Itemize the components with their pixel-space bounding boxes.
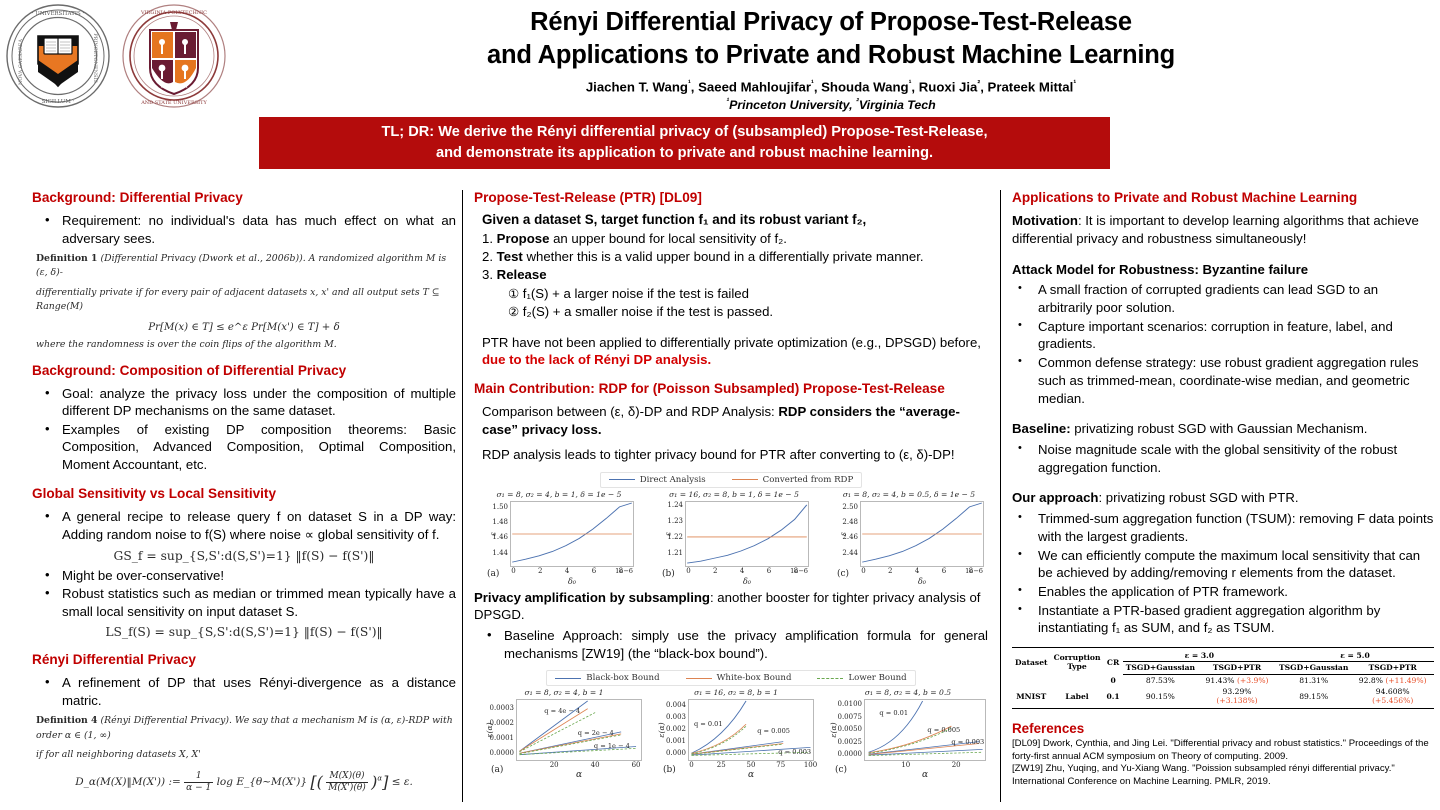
section-heading-background-dp: Background: Differential Privacy [32, 190, 456, 207]
definition-1-text-1: (Differential Privacy (Dwork et al., 200… [36, 253, 446, 278]
legend-swatch-line-icon [555, 678, 581, 679]
list-item: Examples of existing DP composition theo… [36, 421, 456, 474]
ptr-step-2-text: whether this is a valid upper bound in a… [523, 249, 924, 264]
definition-1-label: Definition 1 [36, 253, 98, 264]
list-item: Instantiate a PTR-based gradient aggrega… [1016, 602, 1434, 637]
x-tick: 25 [717, 761, 726, 769]
svg-text:UT PROSIM: UT PROSIM [160, 85, 188, 90]
y-tick-group: 0.0003 0.0002 0.0001 0.0000 [487, 700, 517, 760]
svg-text:NOVA CAESAREA: NOVA CAESAREA [18, 39, 24, 85]
definition-4-line-2: if for all neighboring datasets X, X' [36, 748, 456, 762]
legend-swatch-line-icon [732, 479, 758, 480]
cell-eps3-ptr-value: 91.43% [1206, 676, 1235, 685]
table-row: MNIST Label 0.1 90.15% 93.29% (+3.138%) … [1012, 686, 1434, 709]
bullet-list-sensitivity-1: A general recipe to release query f on d… [36, 508, 456, 543]
column-divider-right [1000, 190, 1001, 802]
attack-model-bullets: A small fraction of corrupted gradients … [1016, 281, 1434, 407]
x-tick: 4 [565, 567, 569, 575]
legend-label: Lower Bound [848, 673, 906, 683]
ptr-step-1: 1. Propose an upper bound for local sens… [482, 230, 988, 248]
plot-curves [861, 502, 983, 566]
y-tick: 0.0000 [838, 750, 863, 758]
baseline-bold: Baseline: [1012, 421, 1071, 436]
our-approach-rest: : privatizing robust SGD with PTR. [1098, 490, 1298, 505]
list-item: Capture important scenarios: corruption … [1016, 318, 1434, 353]
list-item: Robust statistics such as median or trim… [36, 585, 456, 620]
ptr-paragraph-highlight: due to the lack of Rényi DP analysis. [482, 352, 711, 367]
cell-eps3-gaussian: 87.53% [1123, 675, 1198, 687]
ptr-paragraph-plain: PTR have not been applied to differentia… [482, 335, 981, 350]
x-tick: 6 [942, 567, 946, 575]
section-heading-applications: Applications to Private and Robust Machi… [1012, 190, 1434, 207]
col-header-cr: CR [1103, 648, 1122, 675]
x-axis-exponent: 1e−6 [965, 567, 983, 575]
equation-global-sensitivity: GS_f = sup_{S,S':d(S,S')=1} ‖f(S) − f(S'… [32, 549, 456, 563]
panel-title: σ₁ = 8, σ₂ = 4, b = 0.5, δ = 1e − 5 [834, 490, 984, 499]
panel-title: σ₁ = 16, σ₂ = 8, b = 1 [658, 688, 814, 697]
chart-eps-vs-delta0: Direct Analysis Converted from RDP σ₁ = … [474, 472, 988, 567]
y-tick: 1.50 [492, 503, 508, 511]
cell-eps5-gaussian: 89.15% [1276, 686, 1351, 709]
y-tick: 0.0025 [838, 738, 863, 746]
panel-id: (b) [663, 765, 676, 775]
y-tick: 0.004 [666, 701, 686, 709]
x-tick: 10 [901, 761, 910, 769]
y-tick: 0.001 [666, 737, 686, 745]
logo-group: · UNIVERSITATIS · SIGILLUM · NOVA CAESAR… [4, 2, 228, 110]
x-tick: 2 [888, 567, 892, 575]
legend-label: Direct Analysis [640, 475, 706, 485]
y-tick: 1.44 [492, 549, 508, 557]
cell-eps3-ptr-gain: (+3.138%) [1216, 696, 1257, 705]
y-tick: 1.46 [492, 533, 508, 541]
results-table-head: Dataset CorruptionType CR ε = 3.0 ε = 5.… [1012, 648, 1434, 675]
cell-eps3-ptr: 91.43% (+3.9%) [1198, 675, 1276, 687]
list-item: Enables the application of PTR framework… [1016, 583, 1434, 601]
poster-header: · UNIVERSITATIS · SIGILLUM · NOVA CAESAR… [0, 0, 1440, 115]
x-tick: 0 [689, 761, 693, 769]
panel-title: σ₁ = 8, σ₂ = 4, b = 0.5 [830, 688, 986, 697]
chart-1-panel-c: σ₁ = 8, σ₂ = 4, b = 0.5, δ = 1e − 5 ε 2.… [834, 490, 984, 567]
our-approach-bold: Our approach [1012, 490, 1098, 505]
plot-area: ε 1.50 1.48 1.46 1.44 [510, 501, 634, 567]
annotation: q = 0.003 [951, 738, 984, 746]
ptr-step-3-number: 3. [482, 267, 493, 282]
author-list: Jiachen T. Wang¹, Saeed Mahloujifar¹, Sh… [230, 78, 1432, 96]
results-table-body: 0 87.53% 91.43% (+3.9%) 81.31% 92.8% (+1… [1012, 675, 1434, 709]
plot-area: ε 2.50 2.48 2.46 2.44 [860, 501, 984, 567]
y-tick: 0.0100 [838, 700, 863, 708]
definition-4-eq-inner-frac: M(X)(θ) M(X')(θ) [326, 771, 368, 793]
y-tick: 0.002 [666, 725, 686, 733]
references-heading: References [1012, 721, 1434, 736]
y-tick: 1.23 [667, 517, 683, 525]
chart-2-legend: Black-box Bound White-box Bound Lower Bo… [546, 670, 915, 686]
y-tick: 1.21 [667, 549, 683, 557]
bullet-list-background-dp: Requirement: no individual's data has mu… [36, 212, 456, 247]
list-item: Might be over-conservative! [36, 567, 456, 585]
x-tick: 100 [804, 761, 817, 769]
left-column: Background: Differential Privacy Require… [32, 190, 456, 808]
y-tick: 2.48 [842, 518, 858, 526]
annotation: q = 4e − 4 [544, 707, 580, 715]
x-tick: 2 [538, 567, 542, 575]
definition-4-eq-inner-num: M(X)(θ) [326, 771, 368, 782]
ptr-step-2-keyword: Test [497, 249, 523, 264]
x-tick: 2 [713, 567, 717, 575]
x-tick: 6 [592, 567, 596, 575]
definition-4-label: Definition 4 [36, 715, 98, 726]
list-item: Noise magnitude scale with the global se… [1016, 441, 1434, 476]
col-header-eps5-gaussian: TSGD+Gaussian [1276, 662, 1351, 675]
amplification-paragraph: Privacy amplification by subsampling: an… [474, 589, 988, 625]
chart-1-panel-row: σ₁ = 8, σ₂ = 4, b = 1, δ = 1e − 5 ε 1.50… [474, 490, 988, 567]
y-tick: 2.44 [842, 549, 858, 557]
panel-id: (c) [835, 765, 847, 775]
cell-eps5-gaussian: 81.31% [1276, 675, 1351, 687]
chart-1-legend: Direct Analysis Converted from RDP [600, 472, 862, 488]
chart-1-panel-a: σ₁ = 8, σ₂ = 4, b = 1, δ = 1e − 5 ε 1.50… [484, 490, 634, 567]
y-tick-group: 0.0100 0.0075 0.0050 0.0025 0.0000 [831, 700, 865, 760]
y-tick-group: 0.004 0.003 0.002 0.001 0.000 [659, 700, 689, 760]
plot-curves [511, 502, 633, 566]
x-axis-label: α [576, 770, 582, 780]
chart-2-panel-row: σ₁ = 8, σ₂ = 4, b = 1 ε(α) 0.0003 0.0002… [474, 688, 988, 761]
panel-id: (a) [491, 765, 503, 775]
ptr-given-line: Given a dataset S, target function f₁ an… [482, 212, 988, 227]
legend-item-white-box-bound: White-box Bound [686, 673, 792, 683]
list-item: A general recipe to release query f on d… [36, 508, 456, 543]
definition-1-equation: Pr[M(x) ∈ T] ≤ e^ε Pr[M(x') ∈ T] + δ [32, 322, 456, 333]
section-heading-rdp: Rényi Differential Privacy [32, 652, 456, 669]
x-axis-exponent: 1e−6 [615, 567, 633, 575]
y-tick: 0.0000 [490, 749, 515, 757]
definition-4-eq-frac-num: 1 [184, 771, 213, 782]
list-item: Common defense strategy: use robust grad… [1016, 354, 1434, 407]
list-item: Trimmed-sum aggregation function (TSUM):… [1016, 510, 1434, 545]
col-header-corruption-type: CorruptionType [1051, 648, 1104, 675]
ptr-substep-2-marker: ② [508, 305, 519, 319]
definition-4-eq-frac: 1 α − 1 [184, 771, 213, 793]
cell-eps5-ptr-value: 94.608% [1376, 687, 1410, 696]
section-heading-main-contribution: Main Contribution: RDP for (Poisson Subs… [474, 381, 988, 398]
x-tick: 50 [747, 761, 756, 769]
cell-eps3-gaussian: 90.15% [1123, 686, 1198, 709]
y-tick: 2.50 [842, 503, 858, 511]
chart-eps-alpha-subsampling: Black-box Bound White-box Bound Lower Bo… [474, 670, 988, 761]
ptr-substep-2-text: f₂(S) + a smaller noise if the test is p… [523, 304, 773, 319]
table-row: 0 87.53% 91.43% (+3.9%) 81.31% 92.8% (+1… [1012, 675, 1434, 687]
definition-4-text-1: (Rényi Differential Privacy). We say tha… [36, 715, 453, 740]
definition-4-eq-lhs: D_α(M(X)‖M(X')) := [75, 776, 181, 788]
x-tick: 4 [740, 567, 744, 575]
svg-text:SIGILLUM ·: SIGILLUM · [42, 99, 75, 105]
x-tick: 20 [952, 761, 961, 769]
poster-columns: Background: Differential Privacy Require… [0, 190, 1440, 808]
y-tick: 0.003 [666, 713, 686, 721]
plot-area: ε 1.24 1.23 1.22 1.21 [685, 501, 809, 567]
baseline-bullets: Noise magnitude scale with the global se… [1016, 441, 1434, 476]
x-tick: 40 [591, 761, 600, 769]
legend-swatch-dashed-line-icon [817, 678, 843, 679]
legend-label: Converted from RDP [763, 475, 854, 485]
amplification-bold: Privacy amplification by subsampling [474, 590, 710, 605]
cell-cr: 0.1 [1103, 686, 1122, 709]
list-item: A small fraction of corrupted gradients … [1016, 281, 1434, 316]
table-header-row-1: Dataset CorruptionType CR ε = 3.0 ε = 5.… [1012, 648, 1434, 662]
x-axis-label: δ₀ [568, 577, 576, 586]
cell-eps5-ptr-gain: (+5.456%) [1372, 696, 1413, 705]
y-tick: 0.0002 [490, 719, 515, 727]
reference-item: [ZW19] Zhu, Yuqing, and Yu-Xiang Wang. "… [1012, 763, 1434, 788]
definition-4-line-1: Definition 4 (Rényi Differential Privacy… [36, 714, 456, 743]
y-tick: 0.0075 [838, 713, 863, 721]
title-block: Rényi Differential Privacy of Propose-Te… [230, 6, 1432, 114]
y-tick: 0.000 [666, 749, 686, 757]
plot-curves [686, 502, 808, 566]
legend-item-black-box-bound: Black-box Bound [555, 673, 659, 683]
annotation: q = 1e − 4 [594, 742, 630, 750]
y-tick: 0.0003 [490, 704, 515, 712]
ptr-step-2: 2. Test whether this is a valid upper bo… [482, 248, 988, 266]
svg-text:· UNIVERSITATIS ·: · UNIVERSITATIS · [32, 11, 85, 17]
legend-swatch-line-icon [686, 678, 712, 679]
attack-model-heading: Attack Model for Robustness: Byzantine f… [1012, 261, 1434, 279]
col-header-dataset: Dataset [1012, 648, 1051, 675]
tldr-line-1: TL; DR: We derive the Rényi differential… [381, 122, 987, 143]
motivation-bold: Motivation [1012, 213, 1078, 228]
x-tick: 0 [861, 567, 865, 575]
ptr-substep-1-text: f₁(S) + a larger noise if the test is fa… [523, 286, 749, 301]
ptr-substep-1: ① f₁(S) + a larger noise if the test is … [508, 285, 988, 303]
baseline-paragraph: Baseline: privatizing robust SGD with Ga… [1012, 420, 1434, 438]
chart-2-panel-a: σ₁ = 8, σ₂ = 4, b = 1 ε(α) 0.0003 0.0002… [486, 688, 642, 761]
y-tick-group: 1.24 1.23 1.22 1.21 [660, 502, 686, 566]
poster-title-line-2: and Applications to Private and Robust M… [230, 39, 1432, 72]
poster-root: · UNIVERSITATIS · SIGILLUM · NOVA CAESAR… [0, 0, 1440, 810]
col-header-eps3-gaussian: TSGD+Gaussian [1123, 662, 1198, 675]
legend-label: Black-box Bound [586, 673, 659, 683]
chart-2-panel-b: σ₁ = 16, σ₂ = 8, b = 1 ε(α) 0.004 0.003 … [658, 688, 814, 761]
y-tick: 0.0001 [490, 734, 515, 742]
col-header-eps3-ptr: TSGD+PTR [1198, 662, 1276, 675]
cell-cr: 0 [1103, 675, 1122, 687]
ptr-step-2-number: 2. [482, 249, 493, 264]
plot-area: ε(α) 0.0100 0.0075 0.0050 0.0025 0.0000 [864, 699, 986, 761]
cell-eps3-ptr-gain: (+3.9%) [1237, 676, 1269, 685]
annotation: q = 2e − 4 [578, 729, 614, 737]
col-header-eps5-ptr: TSGD+PTR [1351, 662, 1434, 675]
x-tick: 0 [686, 567, 690, 575]
panel-id: (b) [662, 569, 675, 579]
x-tick: 0 [511, 567, 515, 575]
definition-4-equation: D_α(M(X)‖M(X')) := 1 α − 1 log E_{θ~M(X'… [32, 771, 456, 793]
plot-area: ε(α) 0.004 0.003 0.002 0.001 0.000 [688, 699, 814, 761]
cell-eps5-ptr: 94.608% (+5.456%) [1351, 686, 1434, 709]
cell-eps3-ptr-value: 93.29% [1223, 687, 1252, 696]
column-divider-left [462, 190, 463, 802]
ptr-step-1-keyword: Propose [497, 231, 550, 246]
panel-title: σ₁ = 16, σ₂ = 8, b = 1, δ = 1e − 5 [659, 490, 809, 499]
x-axis-label: δ₀ [743, 577, 751, 586]
y-tick: 1.48 [492, 518, 508, 526]
ptr-step-3: 3. Release [482, 266, 988, 284]
affiliation-list: ¹Princeton University, ²Virginia Tech [230, 96, 1432, 114]
middle-column: Propose-Test-Release (PTR) [DL09] Given … [474, 190, 988, 808]
cell-corruption [1051, 675, 1104, 687]
x-axis-label: α [748, 770, 754, 780]
our-approach-paragraph: Our approach: privatizing robust SGD wit… [1012, 489, 1434, 507]
princeton-seal-icon: · UNIVERSITATIS · SIGILLUM · NOVA CAESAR… [4, 2, 112, 110]
list-item: Goal: analyze the privacy loss under the… [36, 385, 456, 420]
legend-item-direct-analysis: Direct Analysis [609, 475, 706, 485]
cell-eps5-ptr-value: 92.8% [1359, 676, 1383, 685]
ptr-step-list: 1. Propose an upper bound for local sens… [482, 230, 988, 285]
x-tick: 75 [776, 761, 785, 769]
panel-title: σ₁ = 8, σ₂ = 4, b = 1 [486, 688, 642, 697]
legend-item-lower-bound: Lower Bound [817, 673, 906, 683]
legend-label: White-box Bound [717, 673, 792, 683]
definition-4-eq-frac-den: α − 1 [184, 783, 213, 793]
definition-1-line-2: differentially private if for every pair… [36, 286, 456, 315]
y-tick-group: 2.50 2.48 2.46 2.44 [835, 502, 861, 566]
chart-1-panel-b: σ₁ = 16, σ₂ = 8, b = 1, δ = 1e − 5 ε 1.2… [659, 490, 809, 567]
x-axis-exponent: 1e−6 [790, 567, 808, 575]
y-tick: 1.24 [667, 501, 683, 509]
results-table: Dataset CorruptionType CR ε = 3.0 ε = 5.… [1012, 647, 1434, 709]
panel-id: (c) [837, 569, 849, 579]
definition-1-line-3: where the randomness is over the coin fl… [36, 339, 456, 350]
ptr-body: Given a dataset S, target function f₁ an… [482, 212, 988, 369]
motivation-paragraph: Motivation: It is important to develop l… [1012, 212, 1434, 248]
y-tick: 2.46 [842, 533, 858, 541]
bullet-list-sensitivity-2: Might be over-conservative! Robust stati… [36, 567, 456, 621]
list-item: We can efficiently compute the maximum l… [1016, 547, 1434, 582]
svg-text:AND STATE UNIVERSITY: AND STATE UNIVERSITY [140, 100, 207, 106]
ptr-step-3-keyword: Release [497, 267, 547, 282]
chart-2-panel-c: σ₁ = 8, σ₂ = 4, b = 0.5 ε(α) 0.0100 0.00… [830, 688, 986, 761]
ptr-step-1-text: an upper bound for local sensitivity of … [549, 231, 787, 246]
virginia-tech-seal-icon: VIRGINIA POLYTECHNIC AND STATE UNIVERSIT… [120, 2, 228, 110]
ptr-step-1-number: 1. [482, 231, 493, 246]
annotation: q = 0.003 [778, 748, 811, 756]
tldr-banner: TL; DR: We derive the Rényi differential… [259, 117, 1110, 169]
x-axis-label: δ₀ [918, 577, 926, 586]
baseline-rest: privatizing robust SGD with Gaussian Mec… [1071, 421, 1368, 436]
section-heading-sensitivity: Global Sensitivity vs Local Sensitivity [32, 486, 456, 503]
annotation: q = 0.005 [927, 726, 960, 734]
panel-title: σ₁ = 8, σ₂ = 4, b = 1, δ = 1e − 5 [484, 490, 634, 499]
ptr-paragraph: PTR have not been applied to differentia… [482, 334, 988, 370]
definition-4-eq-rhs: ≤ ε. [392, 776, 413, 788]
ptr-substep-1-marker: ① [508, 287, 519, 301]
poster-title-line-1: Rényi Differential Privacy of Propose-Te… [230, 6, 1432, 39]
definition-4-eq-mid: log E_{θ~M(X')} [217, 776, 307, 788]
list-item: A refinement of DP that uses Rényi-diver… [36, 674, 456, 709]
annotation: q = 0.01 [879, 709, 908, 717]
reference-item: [DL09] Dwork, Cynthia, and Jing Lei. "Di… [1012, 738, 1434, 763]
cell-eps3-ptr: 93.29% (+3.138%) [1198, 686, 1276, 709]
y-tick: 0.0050 [838, 725, 863, 733]
main-contribution-para-2: RDP analysis leads to tighter privacy bo… [482, 446, 988, 464]
definition-1-line-1: Definition 1 (Differential Privacy (Dwor… [36, 252, 456, 281]
amplification-bullets: Baseline Approach: simply use the privac… [478, 627, 988, 662]
svg-text:VIRGINIA POLYTECHNIC: VIRGINIA POLYTECHNIC [140, 10, 207, 16]
definition-1-block: Definition 1 (Differential Privacy (Dwor… [32, 252, 456, 350]
y-tick: 1.22 [667, 533, 683, 541]
section-heading-composition: Background: Composition of Differential … [32, 363, 456, 380]
x-tick: 4 [915, 567, 919, 575]
tldr-line-2: and demonstrate its application to priva… [436, 143, 933, 164]
cell-eps5-ptr: 92.8% (+11.49%) [1351, 675, 1434, 687]
definition-4-eq-inner-den: M(X')(θ) [326, 783, 368, 793]
ptr-substep-2: ② f₂(S) + a smaller noise if the test is… [508, 303, 988, 321]
group-header-eps-3: ε = 3.0 [1123, 648, 1276, 662]
cell-dataset [1012, 675, 1051, 687]
x-axis-label: α [922, 770, 928, 780]
legend-item-converted-from-rdp: Converted from RDP [732, 475, 854, 485]
section-heading-ptr: Propose-Test-Release (PTR) [DL09] [474, 190, 988, 207]
list-item: Baseline Approach: simply use the privac… [478, 627, 988, 662]
annotation: q = 0.01 [694, 720, 723, 728]
x-tick: 60 [632, 761, 641, 769]
list-item: Requirement: no individual's data has mu… [36, 212, 456, 247]
cell-corruption: Label [1051, 686, 1104, 709]
bullet-list-composition: Goal: analyze the privacy loss under the… [36, 385, 456, 474]
right-column: Applications to Private and Robust Machi… [1012, 190, 1434, 808]
main-contribution-para-1-plain: Comparison between (ε, δ)-DP and RDP Ana… [482, 404, 778, 419]
cell-eps5-ptr-gain: (+11.49%) [1385, 676, 1426, 685]
bullet-list-rdp: A refinement of DP that uses Rényi-diver… [36, 674, 456, 709]
group-header-eps-5: ε = 5.0 [1276, 648, 1434, 662]
svg-text:PRINCETONENSIS: PRINCETONENSIS [92, 33, 98, 83]
plot-area: ε(α) 0.0003 0.0002 0.0001 0.0000 [516, 699, 642, 761]
panel-id: (a) [487, 569, 499, 579]
references-section: References [DL09] Dwork, Cynthia, and Ji… [1012, 721, 1434, 789]
x-tick: 6 [767, 567, 771, 575]
y-tick-group: 1.50 1.48 1.46 1.44 [485, 502, 511, 566]
definition-4-block: Definition 4 (Rényi Differential Privacy… [32, 714, 456, 793]
main-contribution-para-1: Comparison between (ε, δ)-DP and RDP Ana… [482, 403, 988, 439]
annotation: q = 0.005 [757, 727, 790, 735]
cell-dataset: MNIST [1012, 686, 1051, 709]
legend-swatch-line-icon [609, 479, 635, 480]
our-approach-bullets: Trimmed-sum aggregation function (TSUM):… [1016, 510, 1434, 637]
x-tick: 20 [550, 761, 559, 769]
equation-local-sensitivity: LS_f(S) = sup_{S,S':d(S,S')=1} ‖f(S) − f… [32, 625, 456, 639]
